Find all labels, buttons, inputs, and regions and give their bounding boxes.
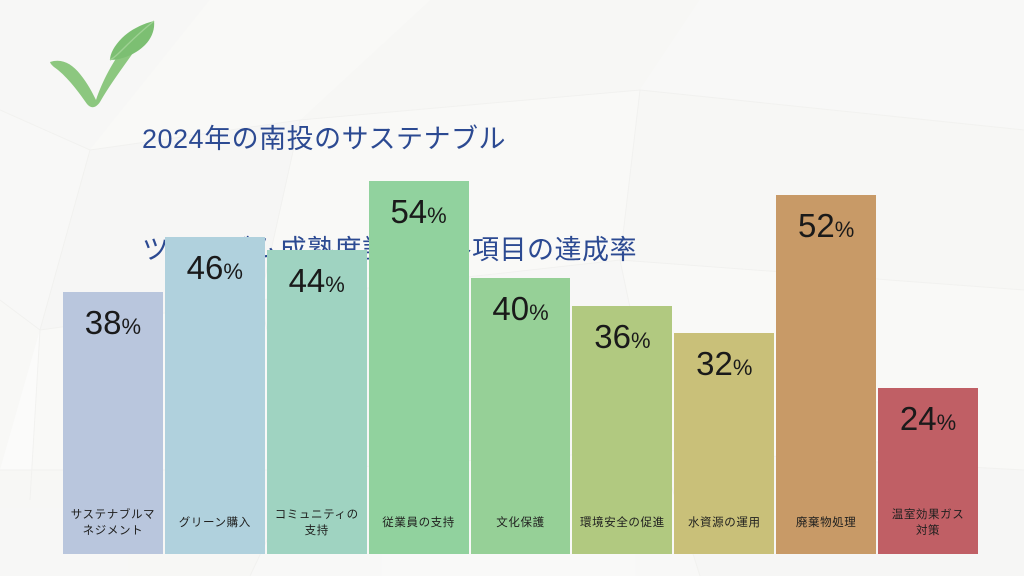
bar-column: 36%環境安全の促進 — [572, 140, 672, 554]
bar-value-percent-sign: % — [835, 217, 855, 242]
bar-column: 54%従業員の支持 — [369, 140, 469, 554]
bar-column: 24%温室効果ガス 対策 — [878, 140, 978, 554]
bar-value-number: 36 — [594, 318, 631, 355]
bar-value-number: 32 — [696, 345, 733, 382]
bar[interactable]: 44%コミュニティの 支持 — [267, 250, 367, 554]
bar-category-label: 廃棄物処理 — [776, 492, 876, 554]
bar-value-label: 38% — [63, 306, 163, 344]
bar-value-label: 24% — [878, 402, 978, 440]
bar-value-percent-sign: % — [122, 314, 142, 339]
bar-value-percent-sign: % — [427, 203, 447, 228]
bar-column: 32%水資源の運用 — [674, 140, 774, 554]
bar-value-label: 52% — [776, 209, 876, 247]
bar-column: 52%廃棄物処理 — [776, 140, 876, 554]
bar[interactable]: 52%廃棄物処理 — [776, 195, 876, 554]
bar-category-label: 従業員の支持 — [369, 492, 469, 554]
bar-value-label: 40% — [471, 292, 571, 330]
bar-value-number: 52 — [798, 207, 835, 244]
bar-column: 44%コミュニティの 支持 — [267, 140, 367, 554]
bar-value-number: 24 — [900, 400, 937, 437]
bar-value-label: 36% — [572, 320, 672, 358]
bar-value-number: 54 — [390, 193, 427, 230]
slide-header: 2024年の南投のサステナブル ツーリズム成熟度評価ー各項目の達成率 — [0, 0, 1024, 140]
bar-category-label: 環境安全の促進 — [572, 492, 672, 554]
bar-value-percent-sign: % — [937, 410, 957, 435]
bar[interactable]: 32%水資源の運用 — [674, 333, 774, 554]
bar-column: 38%サステナブルマ ネジメント — [63, 140, 163, 554]
bar[interactable]: 38%サステナブルマ ネジメント — [63, 292, 163, 554]
bar-value-label: 46% — [165, 251, 265, 289]
bar-value-number: 40 — [492, 290, 529, 327]
bar-category-label: コミュニティの 支持 — [267, 492, 367, 554]
bar-category-label: サステナブルマ ネジメント — [63, 492, 163, 554]
bar-category-label: グリーン購入 — [165, 492, 265, 554]
bar[interactable]: 54%従業員の支持 — [369, 181, 469, 554]
bar-category-label: 温室効果ガス 対策 — [878, 492, 978, 554]
bar-category-label: 文化保護 — [471, 492, 571, 554]
bar[interactable]: 36%環境安全の促進 — [572, 306, 672, 554]
bar-value-number: 38 — [85, 304, 122, 341]
bar-column: 46%グリーン購入 — [165, 140, 265, 554]
bar-value-percent-sign: % — [223, 259, 243, 284]
bar[interactable]: 46%グリーン購入 — [165, 237, 265, 554]
bar-value-label: 54% — [369, 195, 469, 233]
bar-value-percent-sign: % — [325, 272, 345, 297]
bar[interactable]: 24%温室効果ガス 対策 — [878, 388, 978, 554]
slide-content: 2024年の南投のサステナブル ツーリズム成熟度評価ー各項目の達成率 38%サス… — [0, 0, 1024, 576]
bar-category-label: 水資源の運用 — [674, 492, 774, 554]
bar-value-label: 44% — [267, 264, 367, 302]
bar-value-percent-sign: % — [529, 300, 549, 325]
bar-value-number: 46 — [187, 249, 224, 286]
bar[interactable]: 40%文化保護 — [471, 278, 571, 554]
bar-column: 40%文化保護 — [471, 140, 571, 554]
bar-value-number: 44 — [289, 262, 326, 299]
bar-value-percent-sign: % — [733, 355, 753, 380]
bar-value-label: 32% — [674, 347, 774, 385]
bar-chart-plot-area: 38%サステナブルマ ネジメント46%グリーン購入44%コミュニティの 支持54… — [63, 140, 978, 554]
bar-value-percent-sign: % — [631, 328, 651, 353]
bar-chart: 38%サステナブルマ ネジメント46%グリーン購入44%コミュニティの 支持54… — [0, 140, 1024, 576]
